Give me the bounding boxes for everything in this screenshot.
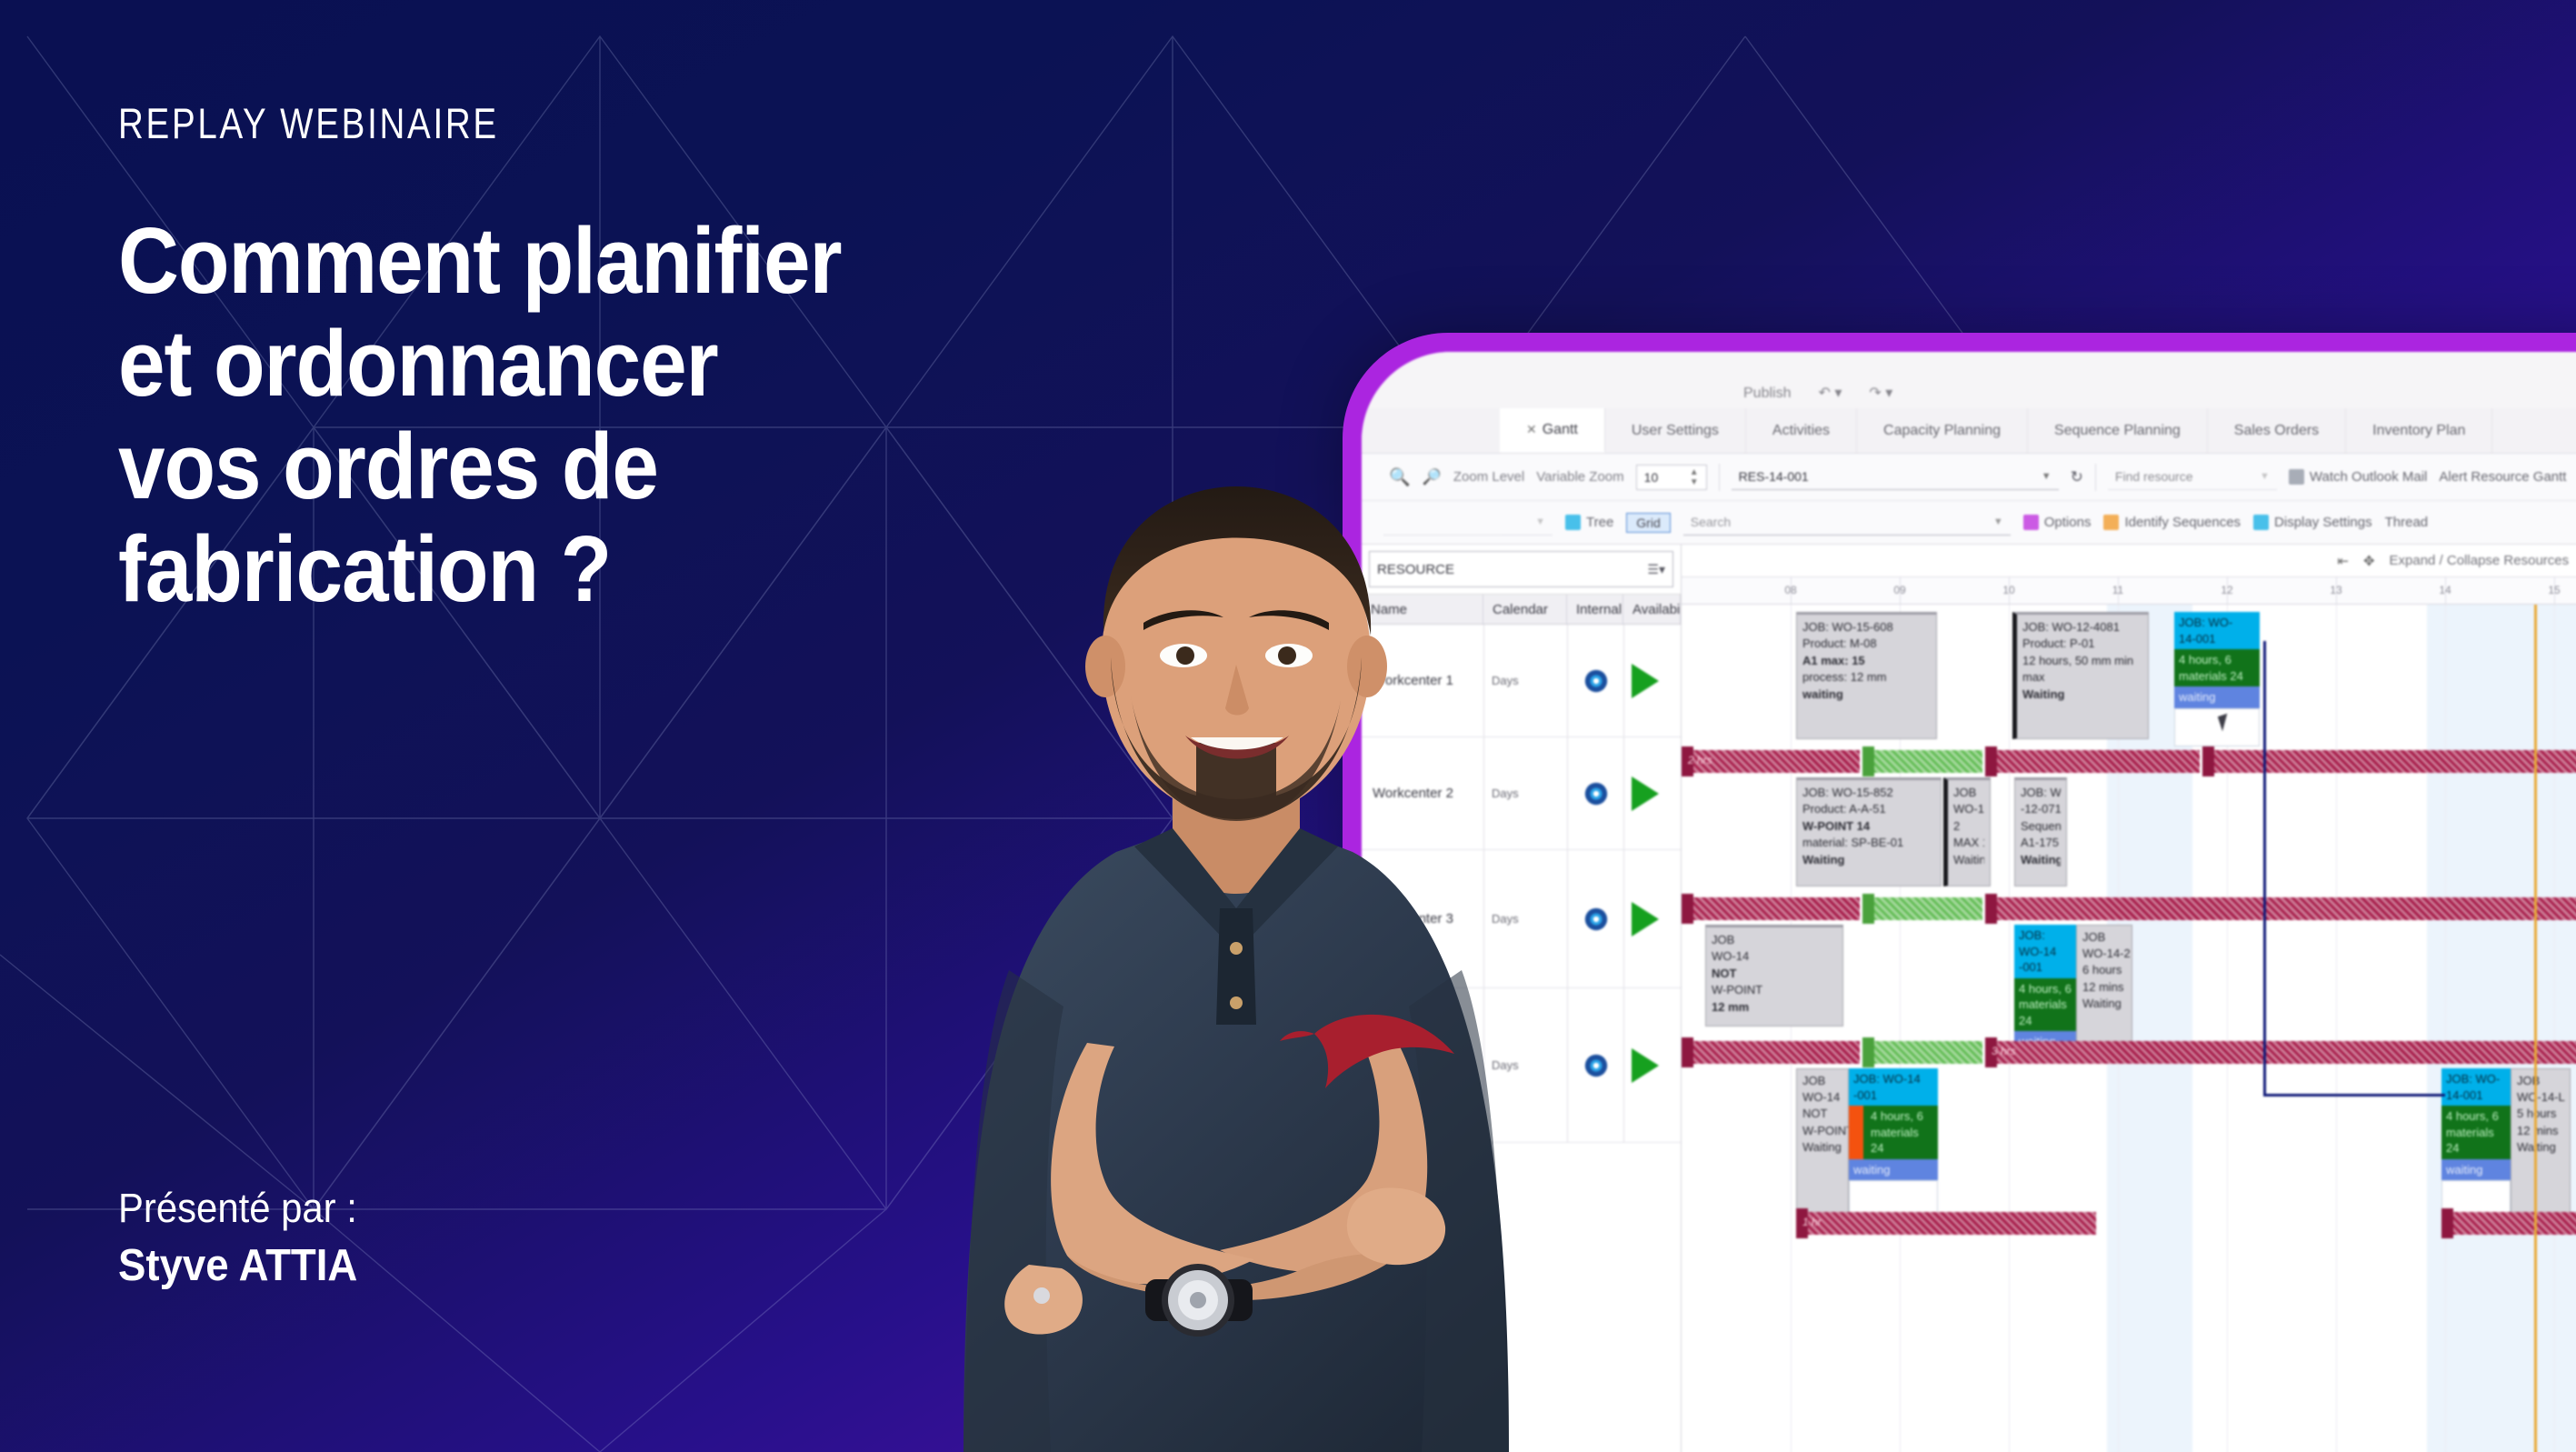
- zoom-stepper[interactable]: 10 ▲▼: [1636, 465, 1707, 490]
- operation-card[interactable]: JOB: WO-15-852 Product: A-A-51 W-POINT 1…: [1796, 777, 1942, 886]
- alert-resource-gantt-button[interactable]: Alert Resource Gantt: [2439, 469, 2566, 485]
- stacked-task-card[interactable]: JOB: WO- 14-001 4 hours, 6 materials 24 …: [2174, 612, 2260, 746]
- refresh-icon[interactable]: ↻: [2071, 468, 2083, 486]
- stacked-task-card[interactable]: JOB: WO-14 -001 4 hours, 6 materials 24 …: [2014, 925, 2132, 1053]
- capacity-bar[interactable]: [1682, 1041, 1860, 1064]
- tab-bar[interactable]: ✕ Gantt User Settings Activities Capacit…: [1362, 408, 2576, 454]
- capacity-bar[interactable]: [1862, 750, 1982, 773]
- capacity-bar[interactable]: [2441, 1212, 2576, 1235]
- play-icon[interactable]: [1623, 988, 1681, 1142]
- card-line: Waiting: [1802, 852, 1935, 868]
- card-line: Waiting: [2022, 686, 2142, 703]
- presenter-label: Présenté par :: [118, 1185, 357, 1232]
- card-line: JOB: WO-15-852: [1802, 785, 1935, 801]
- card-line: Sequence: [2021, 818, 2061, 835]
- gantt-chart[interactable]: ⇤ ✥ Expand / Collapse Resources 100 % 08…: [1682, 545, 2576, 1452]
- grid-label: Grid: [1636, 516, 1660, 530]
- card-footer-band: [2174, 708, 2260, 746]
- card-line: 12 mm: [1712, 999, 1837, 1016]
- card-line: WO-1: [1953, 801, 1984, 817]
- card-line: A1 max: 15: [1802, 653, 1931, 669]
- play-icon[interactable]: [1623, 737, 1681, 849]
- display-label: Display Settings: [2274, 515, 2372, 530]
- headline-line-4: fabrication ?: [118, 522, 1198, 616]
- publish-button[interactable]: Publish: [1743, 386, 1791, 402]
- card-header-band: JOB: WO- 14-001: [2441, 1068, 2511, 1106]
- stepper-arrows-icon[interactable]: ▲▼: [1690, 467, 1699, 487]
- eyebrow-label: REPLAY WEBINAIRE: [118, 98, 1102, 148]
- tick-label: 13: [2330, 584, 2341, 596]
- card-blue-line: waiting: [2179, 689, 2255, 706]
- operation-card[interactable]: JOB: W-2 -12-071 Sequence A1-175 Waiting: [2014, 777, 2067, 886]
- presenter-name: Styve ATTIA: [118, 1240, 357, 1291]
- card-line: 2: [1953, 818, 1984, 835]
- operation-card[interactable]: JOB WO-1 2 MAX 18 Waiting: [1943, 777, 1991, 886]
- gantt-toolbar[interactable]: ⇤ ✥ Expand / Collapse Resources 100 %: [1682, 545, 2576, 577]
- priority-tag: [1849, 1106, 1863, 1159]
- options-button[interactable]: Options: [2023, 515, 2092, 530]
- card-line: JOB: WO-15-608: [1802, 619, 1931, 636]
- tick-label: 10: [2002, 584, 2014, 596]
- pupil-left: [1176, 646, 1194, 665]
- page-title: Comment planifier et ordonnancer vos ord…: [118, 214, 1198, 616]
- card-line: material: SP-BE-01: [1802, 835, 1935, 851]
- pupil-right: [1278, 646, 1296, 665]
- headline-line-2: et ordonnancer: [118, 316, 1198, 410]
- tab-label: User Settings: [1632, 423, 1719, 439]
- card-line: 6 hours: [2082, 962, 2126, 978]
- zoom-value: 10: [1644, 470, 1659, 485]
- tick-label: 09: [1893, 584, 1905, 596]
- card-progress-band: 4 hours, 6 materials 24: [2014, 978, 2076, 1032]
- capacity-bar[interactable]: [1985, 750, 2200, 773]
- tab-label: Activities: [1772, 423, 1830, 439]
- tick-label: 12: [2221, 584, 2232, 596]
- now-marker-line: [2534, 605, 2537, 1452]
- card-line: Waiting: [1802, 1139, 1842, 1156]
- gantt-header-label: Expand / Collapse Resources: [2390, 553, 2570, 568]
- card-line: Product: P-01: [2022, 636, 2142, 652]
- card-blue-line: waiting: [2446, 1162, 2506, 1178]
- ring: [1033, 1287, 1050, 1304]
- tab-sequence-planning[interactable]: Sequence Planning: [2028, 408, 2208, 453]
- dependency-link: [2263, 641, 2266, 1096]
- capacity-bar[interactable]: [1862, 1041, 1982, 1064]
- tab-gantt[interactable]: ✕ Gantt: [1500, 408, 1605, 453]
- card-line: JOB: [2517, 1073, 2564, 1089]
- capacity-label: 2 hrs: [1688, 754, 1712, 766]
- operation-card[interactable]: JOB: WO-12-4081 Product: P-01 12 hours, …: [2012, 612, 2149, 739]
- button: [1230, 996, 1243, 1009]
- card-green-line: 4 hours, 6: [2019, 981, 2072, 997]
- capacity-bar[interactable]: 3 hrs: [1985, 1041, 2576, 1064]
- operation-card-side[interactable]: JOB WO-14-L 5 hours 12 mins Waiting: [2511, 1068, 2571, 1220]
- card-line: JOB: [1712, 932, 1837, 948]
- ear-right: [1347, 636, 1387, 697]
- chevron-down-icon[interactable]: ▼: [1993, 516, 2003, 527]
- card-line: waiting: [1802, 686, 1931, 703]
- options-label: Options: [2044, 515, 2092, 530]
- find-resource-input[interactable]: Find resource ▼: [2108, 465, 2277, 490]
- gantt-rows[interactable]: JOB: WO-15-608 Product: M-08 A1 max: 15 …: [1682, 605, 2576, 1452]
- card-green-line: materials 24: [2019, 996, 2072, 1028]
- card-line: NOT: [1712, 966, 1837, 982]
- identify-label: Identify Sequences: [2124, 515, 2241, 530]
- card-line: WO-14: [1802, 1089, 1842, 1106]
- card-line: 12 mins: [2517, 1123, 2564, 1139]
- capacity-bar[interactable]: 2 hrs: [1682, 750, 1860, 773]
- watch-outlook-mail-button[interactable]: Watch Outlook Mail: [2289, 469, 2428, 485]
- card-subtitle: -001: [2019, 959, 2072, 976]
- expand-icon[interactable]: ✥: [2363, 553, 2375, 569]
- tab-label: Capacity Planning: [1883, 423, 2001, 439]
- display-settings-button[interactable]: Display Settings: [2253, 515, 2372, 530]
- card-progress-band: 4 hours, 6 materials 24: [1849, 1106, 1938, 1159]
- thread-button[interactable]: Thread: [2385, 515, 2429, 530]
- tick-label: 15: [2548, 584, 2560, 596]
- card-subtitle: -001: [1853, 1087, 1933, 1104]
- operation-card[interactable]: JOB: WO-15-608 Product: M-08 A1 max: 15 …: [1796, 612, 1937, 739]
- play-icon[interactable]: [1623, 850, 1681, 987]
- card-line: W-POINT: [1802, 1123, 1842, 1139]
- column-header-availability: Availability: [1623, 595, 1681, 624]
- card-line: JOB: [1802, 1073, 1842, 1089]
- stacked-task-card[interactable]: JOB WO-14 NOT W-POINT Waiting JOB: WO-14…: [1796, 1068, 1938, 1226]
- play-icon[interactable]: [1623, 625, 1681, 736]
- card-green-line: 4 hours, 6: [1871, 1108, 1933, 1125]
- headline-line-1: Comment planifier: [118, 214, 1198, 307]
- card-line: WO-14-L: [2517, 1089, 2564, 1106]
- card-progress-band: 4 hours, 6 materials 24: [2174, 649, 2260, 686]
- undo-icon[interactable]: ↶ ▾: [1818, 384, 1842, 402]
- card-line: WO-14: [1712, 948, 1837, 965]
- chevron-down-icon[interactable]: ▼: [2260, 471, 2270, 482]
- quick-access-toolbar: Publish ↶ ▾ ↷ ▾: [1362, 352, 2576, 408]
- card-status-band: waiting: [2441, 1159, 2511, 1181]
- operation-card[interactable]: JOB WO-14 NOT W-POINT 12 mm: [1705, 925, 1843, 1026]
- card-subtitle: 14-001: [2179, 631, 2255, 647]
- redo-icon[interactable]: ↷ ▾: [1869, 384, 1892, 402]
- card-green-line: materials 24: [2179, 668, 2255, 685]
- resource-combo-value: RES-14-001: [1739, 469, 1809, 484]
- card-line: -12-071: [2021, 801, 2061, 817]
- tab-label: Gantt: [1543, 422, 1578, 438]
- card-blue-line: waiting: [1853, 1162, 1933, 1178]
- tab-user-settings[interactable]: User Settings: [1605, 408, 1746, 453]
- hero-text-column: REPLAY WEBINAIRE Comment planifier et or…: [118, 98, 1318, 625]
- collapse-icon[interactable]: ⇤: [2337, 553, 2349, 569]
- card-line: W-POINT 14: [1802, 818, 1935, 835]
- outlook-label: Watch Outlook Mail: [2310, 469, 2428, 485]
- tab-capacity-planning[interactable]: Capacity Planning: [1857, 408, 2028, 453]
- ear-left: [1085, 636, 1125, 697]
- gantt-timescale: 08 09 10 11 12 13 14 15: [1682, 577, 2576, 605]
- sequences-icon: [2103, 515, 2119, 530]
- tick-label: 11: [2112, 584, 2123, 596]
- filter-icon[interactable]: ☰▾: [1647, 562, 1665, 577]
- card-line: Waiting: [2517, 1139, 2564, 1156]
- card-line: max: [2022, 669, 2142, 686]
- card-line: 12 hours, 50 mm min: [2022, 653, 2142, 669]
- card-line: JOB: W-2: [2021, 785, 2061, 801]
- tab-sales-orders[interactable]: Sales Orders: [2208, 408, 2346, 453]
- card-header-band: JOB: WO-14 -001: [2014, 925, 2076, 978]
- tab-label: Sequence Planning: [2054, 423, 2181, 439]
- options-icon: [2023, 515, 2039, 530]
- headline-line-3: vos ordres de: [118, 419, 1198, 513]
- capacity-bar[interactable]: [1862, 897, 1982, 920]
- card-title: JOB: WO-: [2446, 1071, 2506, 1087]
- card-line: Waiting: [1953, 852, 1984, 868]
- card-line: Waiting: [2021, 852, 2061, 868]
- card-line: A1-175: [2021, 835, 2061, 851]
- card-green-line: materials 24: [1871, 1125, 1933, 1157]
- card-status-band: waiting: [2174, 686, 2260, 708]
- tab-label: Sales Orders: [2234, 423, 2319, 439]
- card-line: MAX 18: [1953, 835, 1984, 851]
- mail-icon: [2289, 469, 2304, 485]
- card-green-line: materials 24: [2446, 1125, 2506, 1157]
- close-icon[interactable]: ✕: [1526, 422, 1537, 437]
- thread-label: Thread: [2385, 515, 2429, 530]
- card-line: Waiting: [2082, 996, 2126, 1012]
- button: [1230, 942, 1243, 955]
- card-green-line: 4 hours, 6: [2179, 652, 2255, 668]
- capacity-bar[interactable]: [2202, 750, 2576, 773]
- card-line: JOB: [2082, 929, 2126, 946]
- tab-label: Inventory Plan: [2372, 423, 2465, 439]
- tick-label: 14: [2439, 584, 2451, 596]
- find-resource-placeholder: Find resource: [2115, 469, 2193, 484]
- card-line: JOB: WO-12-4081: [2022, 619, 2142, 636]
- card-line: 5 hours: [2517, 1106, 2564, 1122]
- divider: [1719, 464, 1720, 491]
- capacity-bar[interactable]: [1985, 897, 2576, 920]
- card-title: JOB: WO-: [2179, 615, 2255, 631]
- tick-label: 08: [1784, 584, 1796, 596]
- card-title: JOB: WO-14: [2019, 927, 2072, 959]
- card-title: JOB: WO-14: [1853, 1071, 1933, 1087]
- card-line: process: 12 mm: [1802, 669, 1931, 686]
- card-line: NOT: [1802, 1106, 1842, 1122]
- card-line: JOB: [1953, 785, 1984, 801]
- capacity-bar[interactable]: 1 hr: [1796, 1212, 2096, 1235]
- chevron-down-icon[interactable]: ▼: [2042, 471, 2052, 482]
- search-placeholder: Search: [1691, 515, 1731, 529]
- tab-inventory-plan[interactable]: Inventory Plan: [2346, 408, 2492, 453]
- resource-combo[interactable]: RES-14-001 ▼: [1732, 465, 2059, 490]
- capacity-label: 1 hr: [1802, 1216, 1822, 1228]
- tab-activities[interactable]: Activities: [1746, 408, 1857, 453]
- identify-sequences-button[interactable]: Identify Sequences: [2103, 515, 2241, 530]
- card-progress-band: 4 hours, 6 materials 24: [2441, 1106, 2511, 1159]
- card-line: Product: A-A-51: [1802, 801, 1935, 817]
- alert-label: Alert Resource Gantt: [2439, 469, 2566, 485]
- display-icon: [2253, 515, 2269, 530]
- operation-card-side[interactable]: JOB WO-14-2 6 hours 12 mins Waiting: [2076, 925, 2132, 1053]
- card-header-band: JOB: WO- 14-001: [2174, 612, 2260, 649]
- card-line: Product: M-08: [1802, 636, 1931, 652]
- capacity-label: 3 hrs: [1992, 1045, 2016, 1057]
- card-header-band: JOB: WO-14 -001: [1849, 1068, 1938, 1106]
- card-green-line: 4 hours, 6: [2446, 1108, 2506, 1125]
- card-subtitle: 14-001: [2446, 1087, 2506, 1104]
- operation-card-side[interactable]: JOB WO-14 NOT W-POINT Waiting: [1796, 1068, 1849, 1226]
- divider: [2095, 464, 2096, 491]
- card-line: WO-14-2: [2082, 946, 2126, 962]
- stacked-task-card[interactable]: JOB: WO- 14-001 4 hours, 6 materials 24 …: [2441, 1068, 2571, 1220]
- grid-view-button[interactable]: Grid: [1626, 513, 1670, 533]
- search-input[interactable]: Search ▼: [1683, 510, 2011, 536]
- dependency-link: [2263, 1094, 2445, 1097]
- presenter-block: Présenté par : Styve ATTIA: [118, 1185, 375, 1291]
- capacity-bar[interactable]: [1682, 897, 1860, 920]
- card-line: 12 mins: [2082, 979, 2126, 996]
- card-status-band: waiting: [1849, 1159, 1938, 1181]
- card-line: W-POINT: [1712, 982, 1837, 998]
